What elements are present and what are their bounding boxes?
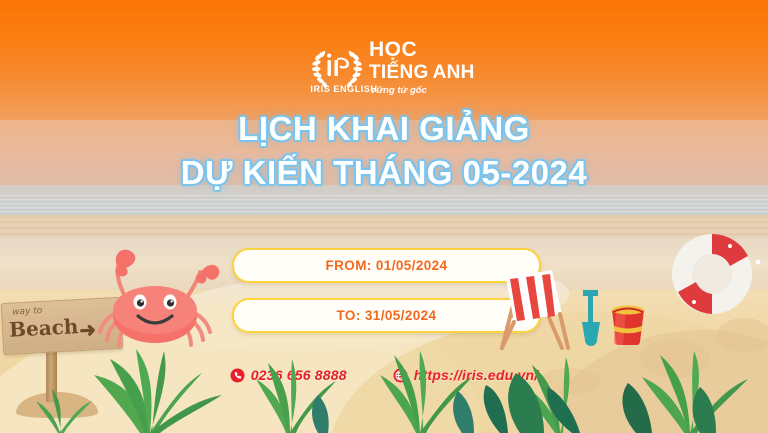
page-title-line-1: LỊCH KHAI GIẢNG: [238, 110, 530, 147]
logo-brand-name: IRIS ENGLISH: [302, 84, 386, 94]
date-range-from-label: FROM: 01/05/2024: [326, 258, 448, 273]
logo-line-tieng-anh: TIẾNG ANH: [369, 63, 475, 82]
page-title: LỊCH KHAI GIẢNG DỰ KIẾN THÁNG 05-2024: [0, 112, 768, 190]
logo-line-hoc: HỌC: [369, 39, 475, 60]
logo-word-tieng: TIẾNG: [369, 63, 429, 82]
life-ring-icon: [672, 228, 768, 320]
promo-banner: HỌC TIẾNG ANH Vững từ gốc IRIS ENGLISH L…: [0, 0, 768, 433]
page-title-line-2: DỰ KIẾN THÁNG 05-2024: [0, 156, 768, 191]
palm-foliage-icon: [0, 313, 768, 433]
logo-word-anh: ANH: [433, 63, 475, 82]
